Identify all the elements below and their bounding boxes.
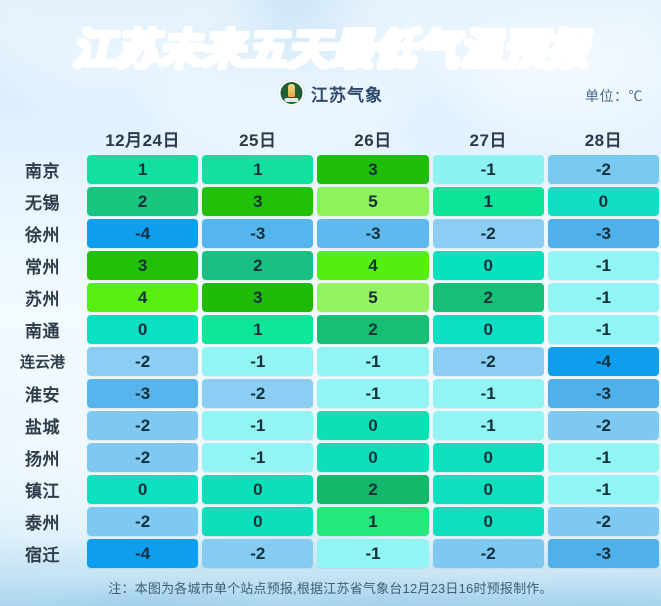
- city-label: 常州: [0, 253, 85, 278]
- temperature-cell: 1: [202, 315, 313, 344]
- footnote: 注：本图为各城市单个站点预报,根据江苏省气象台12月23日16时预报制作。: [0, 578, 661, 597]
- table-row: 苏州4352-1: [0, 283, 661, 312]
- temperature-cell: -2: [87, 507, 198, 536]
- table-row: 徐州-4-3-3-2-3: [0, 219, 661, 248]
- date-header-0: 12月24日: [85, 126, 200, 151]
- temperature-cell: -3: [548, 539, 659, 568]
- table-body: 南京113-1-2无锡23510徐州-4-3-3-2-3常州3240-1苏州43…: [0, 155, 661, 568]
- temperature-cell: 3: [317, 155, 428, 184]
- temperature-cell: -2: [433, 219, 544, 248]
- temperature-cell: -2: [202, 379, 313, 408]
- temperature-cell: 2: [317, 475, 428, 504]
- temperature-cell: -1: [317, 347, 428, 376]
- city-label: 泰州: [0, 509, 85, 534]
- date-header-4: 28日: [546, 126, 661, 151]
- table-row: 淮安-3-2-1-1-3: [0, 379, 661, 408]
- temperature-cell: 2: [433, 283, 544, 312]
- city-label: 镇江: [0, 477, 85, 502]
- weather-forecast-poster: 江苏未来五天最低气温预报 江苏气象 单位：℃ 12月24日 25日 26日 27…: [0, 0, 661, 606]
- temperature-cell: 0: [433, 475, 544, 504]
- temperature-cell: 3: [87, 251, 198, 280]
- temperature-cell: 1: [202, 155, 313, 184]
- temperature-cell: -1: [433, 379, 544, 408]
- temperature-cell: -2: [548, 155, 659, 184]
- page-title: 江苏未来五天最低气温预报: [72, 16, 588, 77]
- temperature-cell: 0: [87, 475, 198, 504]
- temperature-cell: -4: [87, 539, 198, 568]
- table-row: 宿迁-4-2-1-2-3: [0, 539, 661, 568]
- temperature-cell: -1: [433, 155, 544, 184]
- temperature-cell: 1: [87, 155, 198, 184]
- brand-name: 江苏气象: [311, 81, 383, 106]
- temperature-cell: -3: [548, 379, 659, 408]
- city-label: 无锡: [0, 189, 85, 214]
- temperature-cell: 1: [317, 507, 428, 536]
- temperature-cell: -1: [548, 251, 659, 280]
- city-label: 南京: [0, 157, 85, 182]
- table-row: 盐城-2-10-1-2: [0, 411, 661, 440]
- temperature-cell: -3: [317, 219, 428, 248]
- date-header-2: 26日: [315, 126, 430, 151]
- table-row: 泰州-2010-2: [0, 507, 661, 536]
- temperature-cell: -4: [548, 347, 659, 376]
- temperature-cell: 0: [433, 251, 544, 280]
- temperature-cell: 0: [433, 507, 544, 536]
- temperature-cell: -2: [202, 539, 313, 568]
- temperature-cell: 4: [87, 283, 198, 312]
- temperature-cell: 3: [202, 187, 313, 216]
- temperature-cell: 4: [317, 251, 428, 280]
- brand-logo: 江苏气象: [278, 80, 383, 106]
- temperature-cell: -2: [87, 411, 198, 440]
- table-row: 镇江0020-1: [0, 475, 661, 504]
- temperature-cell: -2: [548, 411, 659, 440]
- date-header-3: 27日: [431, 126, 546, 151]
- temperature-cell: 0: [433, 315, 544, 344]
- temperature-cell: -3: [87, 379, 198, 408]
- table-row: 常州3240-1: [0, 251, 661, 280]
- city-label: 扬州: [0, 445, 85, 470]
- city-label: 宿迁: [0, 541, 85, 566]
- temperature-cell: 0: [433, 443, 544, 472]
- forecast-table: 12月24日 25日 26日 27日 28日 南京113-1-2无锡23510徐…: [0, 121, 661, 571]
- temperature-cell: -3: [548, 219, 659, 248]
- temperature-cell: -1: [433, 411, 544, 440]
- city-label: 淮安: [0, 381, 85, 406]
- temperature-cell: -2: [87, 443, 198, 472]
- temperature-cell: -1: [548, 283, 659, 312]
- city-label: 盐城: [0, 413, 85, 438]
- temperature-cell: -1: [202, 347, 313, 376]
- temperature-cell: 0: [548, 187, 659, 216]
- temperature-cell: -3: [202, 219, 313, 248]
- temperature-cell: -2: [548, 507, 659, 536]
- city-label: 徐州: [0, 221, 85, 246]
- temperature-cell: -1: [317, 539, 428, 568]
- city-label: 苏州: [0, 285, 85, 310]
- temperature-cell: 0: [317, 411, 428, 440]
- page-title-container: 江苏未来五天最低气温预报: [0, 16, 661, 77]
- city-label: 南通: [0, 317, 85, 342]
- date-header-1: 25日: [200, 126, 315, 151]
- temperature-cell: 1: [433, 187, 544, 216]
- temperature-cell: 2: [87, 187, 198, 216]
- temperature-cell: 3: [202, 283, 313, 312]
- temperature-cell: 2: [317, 315, 428, 344]
- temperature-cell: -4: [87, 219, 198, 248]
- temperature-cell: -2: [433, 539, 544, 568]
- jiangsu-meteorology-emblem-icon: [278, 80, 304, 106]
- temperature-cell: 0: [87, 315, 198, 344]
- table-header-row: 12月24日 25日 26日 27日 28日: [0, 121, 661, 155]
- table-row: 南通0120-1: [0, 315, 661, 344]
- temperature-cell: -2: [87, 347, 198, 376]
- city-label: 连云港: [0, 351, 85, 372]
- temperature-cell: 0: [317, 443, 428, 472]
- temperature-cell: -1: [548, 315, 659, 344]
- table-row: 南京113-1-2: [0, 155, 661, 184]
- temperature-cell: -1: [548, 475, 659, 504]
- temperature-cell: -2: [433, 347, 544, 376]
- temperature-cell: 0: [202, 507, 313, 536]
- temperature-cell: 5: [317, 187, 428, 216]
- table-row: 扬州-2-100-1: [0, 443, 661, 472]
- temperature-cell: -1: [202, 411, 313, 440]
- temperature-cell: -1: [317, 379, 428, 408]
- unit-label: 单位：℃: [585, 86, 643, 106]
- temperature-cell: -1: [548, 443, 659, 472]
- temperature-cell: 2: [202, 251, 313, 280]
- temperature-cell: -1: [202, 443, 313, 472]
- logo-row: 江苏气象: [0, 80, 661, 114]
- temperature-cell: 5: [317, 283, 428, 312]
- table-row: 连云港-2-1-1-2-4: [0, 347, 661, 376]
- temperature-cell: 0: [202, 475, 313, 504]
- table-row: 无锡23510: [0, 187, 661, 216]
